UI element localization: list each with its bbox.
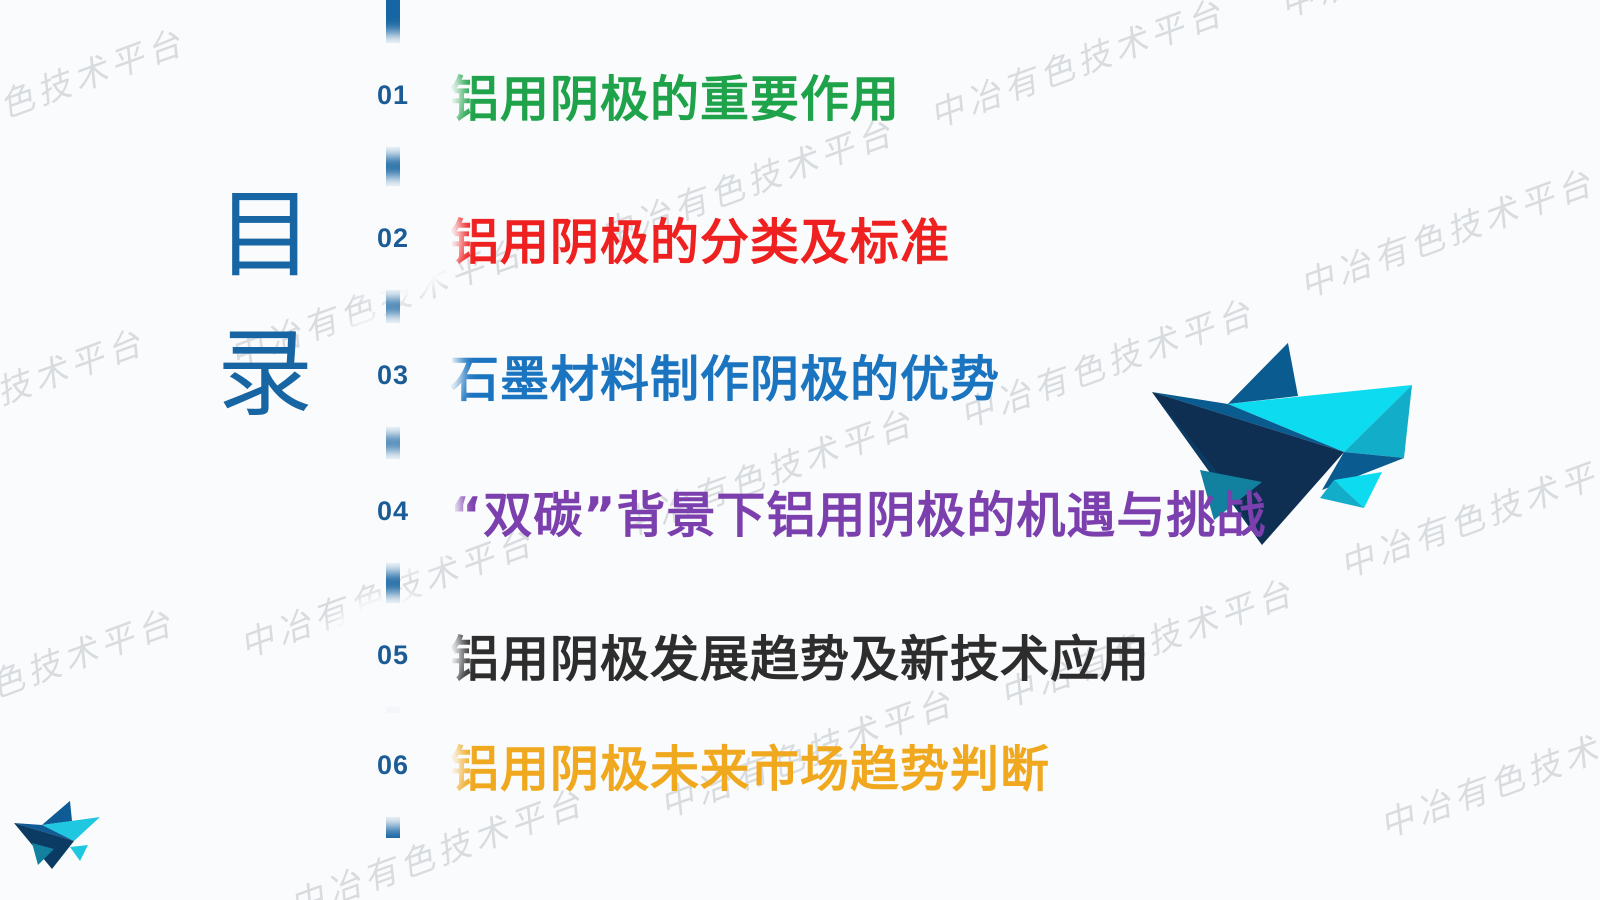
toc-list: 01铝用阴极的重要作用02铝用阴极的分类及标准03石墨材料制作阴极的优势04“双…: [0, 0, 1600, 900]
toc-number-badge: 06: [330, 710, 456, 820]
toc-item-01[interactable]: 01铝用阴极的重要作用: [330, 40, 900, 150]
toc-label: 铝用阴极未来市场趋势判断: [450, 730, 1050, 801]
toc-label: 铝用阴极的分类及标准: [450, 203, 950, 274]
toc-label: 铝用阴极发展趋势及新技术应用: [450, 620, 1150, 691]
toc-number: 06: [377, 750, 409, 781]
toc-label: “双碳”背景下铝用阴极的机遇与挑战: [450, 476, 1266, 547]
toc-item-02[interactable]: 02铝用阴极的分类及标准: [330, 183, 950, 293]
toc-number-badge: 04: [330, 456, 456, 566]
toc-number-badge: 02: [330, 183, 456, 293]
toc-number: 03: [377, 360, 409, 391]
toc-item-04[interactable]: 04“双碳”背景下铝用阴极的机遇与挑战: [330, 456, 1266, 566]
toc-item-06[interactable]: 06铝用阴极未来市场趋势判断: [330, 710, 1050, 820]
toc-number: 02: [377, 223, 409, 254]
slide-root: 中冶有色技术平台中冶有色技术平台中冶有色技术平台中冶有色技术平台中冶有色技术平台…: [0, 0, 1600, 900]
toc-number-badge: 05: [330, 600, 456, 710]
toc-number-badge: 03: [330, 320, 456, 430]
toc-number: 01: [377, 80, 409, 111]
toc-label: 石墨材料制作阴极的优势: [450, 340, 1000, 411]
toc-number: 05: [377, 640, 409, 671]
toc-number: 04: [377, 496, 409, 527]
toc-number-badge: 01: [330, 40, 456, 150]
toc-label: 铝用阴极的重要作用: [450, 60, 900, 131]
toc-item-03[interactable]: 03石墨材料制作阴极的优势: [330, 320, 1000, 430]
toc-item-05[interactable]: 05铝用阴极发展趋势及新技术应用: [330, 600, 1150, 710]
